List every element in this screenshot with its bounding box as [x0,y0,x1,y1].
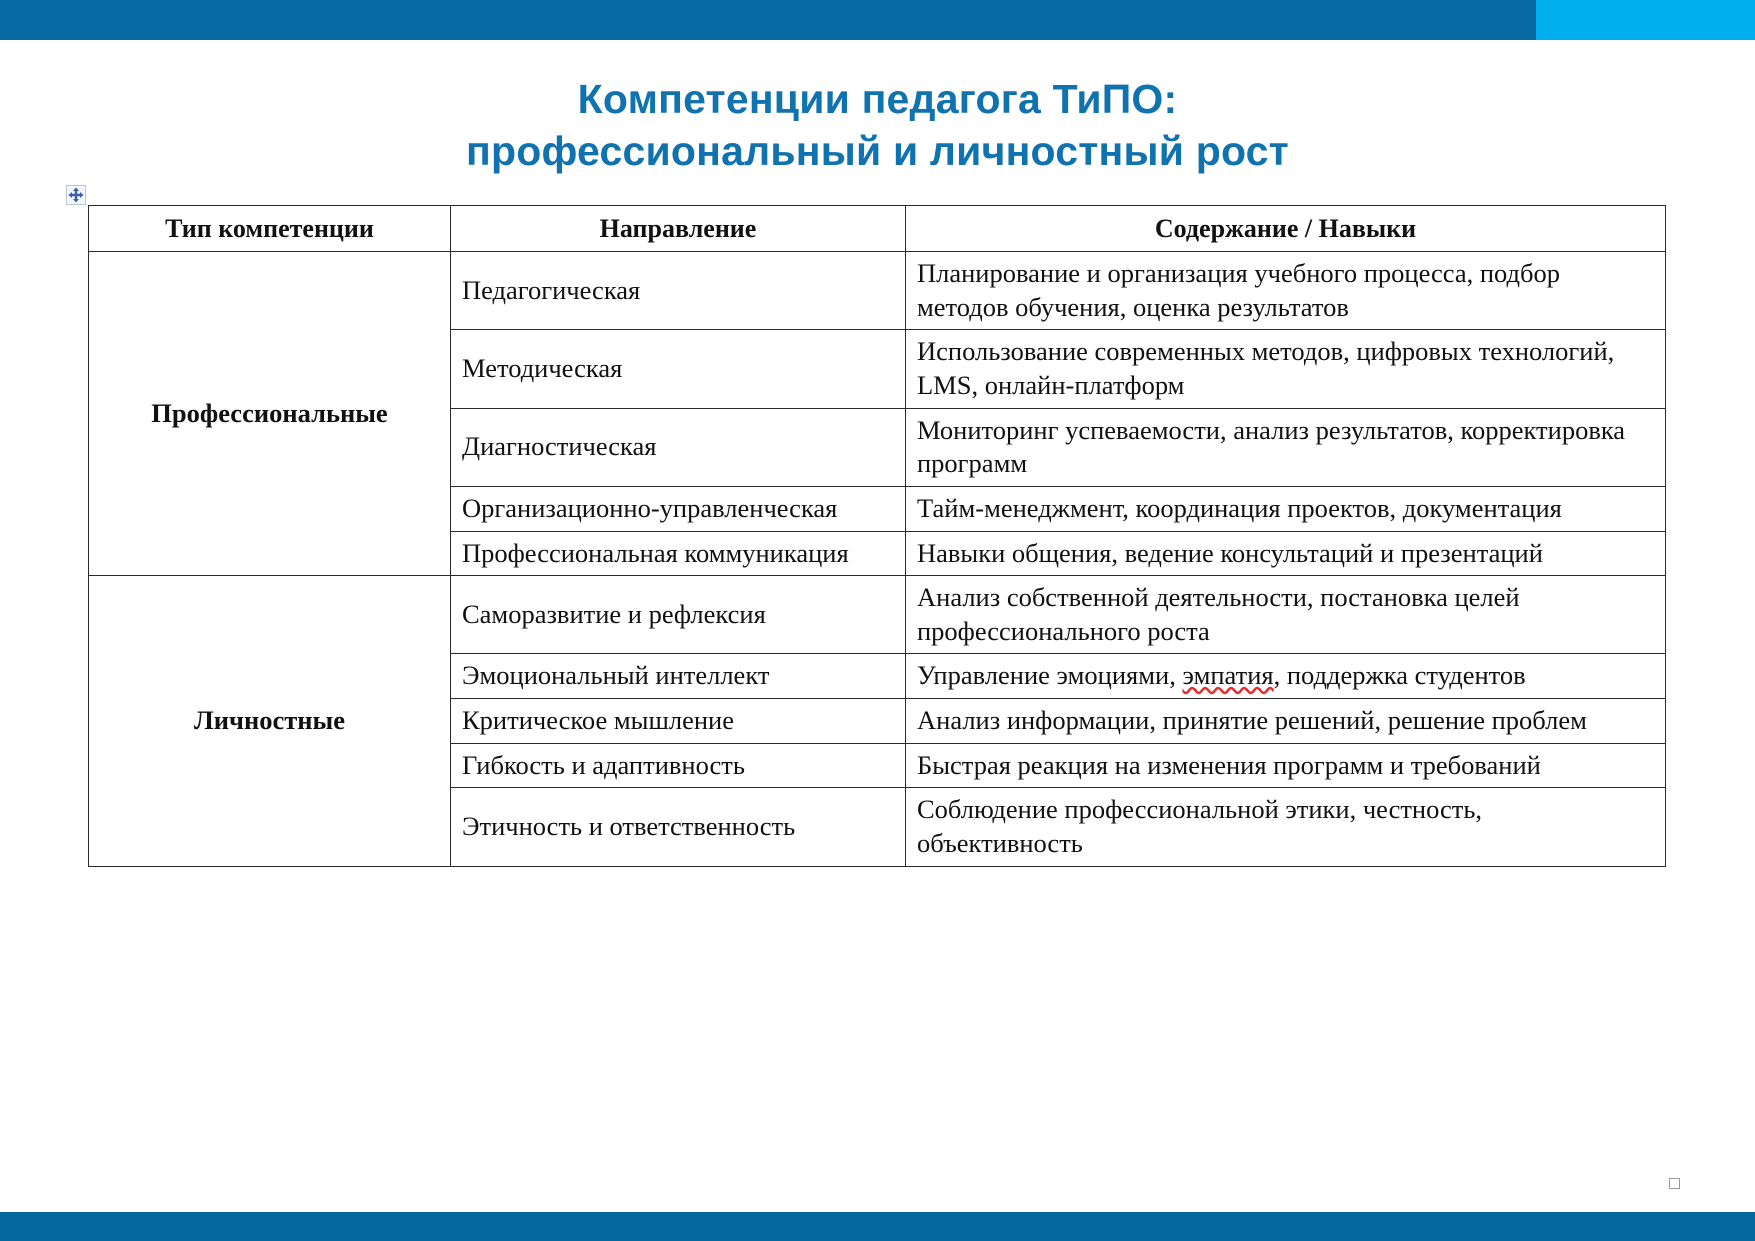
table-move-handle[interactable] [66,185,86,205]
content-cell: Навыки общения, ведение консультаций и п… [906,531,1666,576]
direction-cell: Критическое мышление [451,699,906,744]
content-cell: Соблюдение профессиональной этики, честн… [906,788,1666,866]
direction-cell: Организационно-управленческая [451,486,906,531]
direction-cell: Гибкость и адаптивность [451,743,906,788]
table-head: Тип компетенции Направление Содержание /… [89,206,1666,252]
competency-table-container[interactable]: Тип компетенции Направление Содержание /… [88,205,1665,867]
slide-title-line-2: профессиональный и личностный рост [0,125,1755,177]
top-decoration-band [0,0,1755,40]
content-cell: Планирование и организация учебного проц… [906,252,1666,330]
direction-cell: Эмоциональный интеллект [451,654,906,699]
spellcheck-error-word: эмпатия [1182,660,1273,690]
direction-cell: Этичность и ответственность [451,788,906,866]
competency-type-personal: Личностные [89,576,451,866]
content-cell: Анализ информации, принятие решений, реш… [906,699,1666,744]
competency-type-professional: Профессиональные [89,252,451,576]
content-cell: Анализ собственной деятельности, постано… [906,576,1666,654]
content-cell: Быстрая реакция на изменения программ и … [906,743,1666,788]
bottom-decoration-band [0,1212,1755,1241]
column-header-type: Тип компетенции [89,206,451,252]
table-resize-handle[interactable] [1669,1178,1680,1189]
direction-cell: Диагностическая [451,408,906,486]
content-cell: Мониторинг успеваемости, анализ результа… [906,408,1666,486]
slide-title-line-1: Компетенции педагога ТиПО: [0,73,1755,125]
direction-cell: Методическая [451,330,906,408]
table-row[interactable]: Профессиональные Педагогическая Планиров… [89,252,1666,330]
move-cross-icon [67,186,85,204]
top-band-dark-segment [0,0,1536,40]
content-cell-with-spellcheck: Управление эмоциями, эмпатия, поддержка … [906,654,1666,699]
table-body: Профессиональные Педагогическая Планиров… [89,252,1666,867]
top-band-light-segment [1536,0,1755,40]
table-row[interactable]: Личностные Саморазвитие и рефлексия Анал… [89,576,1666,654]
slide-title: Компетенции педагога ТиПО: профессиональ… [0,73,1755,177]
column-header-content: Содержание / Навыки [906,206,1666,252]
competency-table[interactable]: Тип компетенции Направление Содержание /… [88,205,1666,867]
content-cell: Использование современных методов, цифро… [906,330,1666,408]
direction-cell: Профессиональная коммуникация [451,531,906,576]
column-header-direction: Направление [451,206,906,252]
content-text-after: , поддержка студентов [1274,660,1526,690]
content-text-before: Управление эмоциями, [917,660,1182,690]
direction-cell: Педагогическая [451,252,906,330]
content-cell: Тайм-менеджмент, координация проектов, д… [906,486,1666,531]
table-header-row: Тип компетенции Направление Содержание /… [89,206,1666,252]
direction-cell: Саморазвитие и рефлексия [451,576,906,654]
